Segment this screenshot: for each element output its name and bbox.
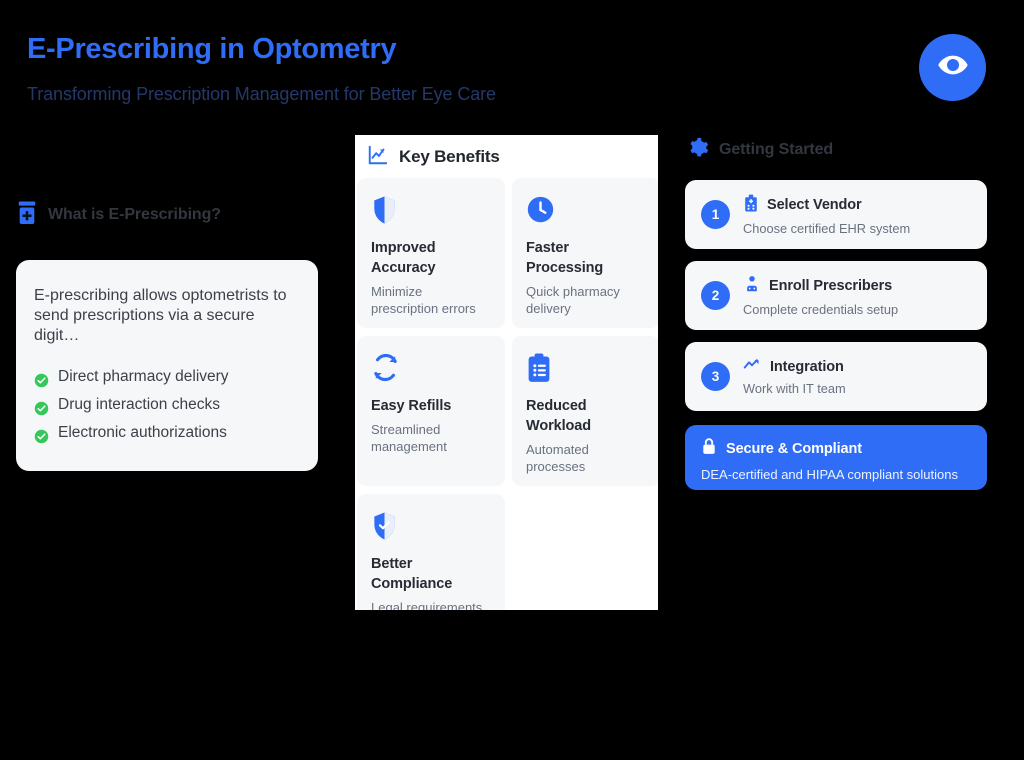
steps-list: 1 Select Vendor xyxy=(685,180,987,490)
step-body: Enroll Prescribers Complete credentials … xyxy=(743,275,973,317)
shield-icon xyxy=(371,195,491,225)
about-heading: What is E-Prescribing? xyxy=(48,206,221,224)
about-bullet-list: Direct pharmacy delivery Drug interactio… xyxy=(34,363,298,447)
bullet-label: Drug interaction checks xyxy=(58,391,220,419)
eye-icon xyxy=(937,49,969,86)
hospital-icon xyxy=(743,194,759,217)
eye-badge xyxy=(919,34,986,101)
step-body: Integration Work with IT team xyxy=(743,357,973,396)
step-number-badge: 3 xyxy=(701,362,730,391)
step-desc: Complete credentials setup xyxy=(743,302,973,317)
step-number-badge: 2 xyxy=(701,281,730,310)
benefit-card: Faster Processing Quick pharmacy deliver… xyxy=(512,178,658,328)
secure-compliant-card[interactable]: Secure & Compliant DEA-certified and HIP… xyxy=(685,425,987,490)
check-circle-icon xyxy=(34,370,49,385)
benefit-desc: Streamlined management xyxy=(371,421,491,455)
list-item: Drug interaction checks xyxy=(34,391,298,419)
benefit-desc: Minimize prescription errors xyxy=(371,283,491,317)
benefit-title: Faster Processing xyxy=(526,238,646,278)
secure-title: Secure & Compliant xyxy=(726,441,862,457)
about-card: E-prescribing allows optometrists to sen… xyxy=(16,260,318,471)
secure-desc: DEA-certified and HIPAA compliant soluti… xyxy=(701,467,973,482)
step-desc: Work with IT team xyxy=(743,381,973,396)
list-item: Direct pharmacy delivery xyxy=(34,363,298,391)
step-desc: Choose certified EHR system xyxy=(743,221,973,236)
getting-started-header: Getting Started xyxy=(685,135,987,165)
users-icon xyxy=(743,275,761,298)
step-title: Select Vendor xyxy=(767,197,862,213)
bullet-label: Electronic authorizations xyxy=(58,419,227,447)
pill-bottle-icon xyxy=(16,201,38,230)
step-card[interactable]: 2 Enroll Prescribers Complete credential xyxy=(685,261,987,330)
bullet-label: Direct pharmacy delivery xyxy=(58,363,229,391)
getting-started-section: Getting Started 1 xyxy=(685,135,987,490)
benefit-card: Easy Refills Streamlined management xyxy=(357,336,505,486)
getting-started-heading: Getting Started xyxy=(719,141,833,159)
key-benefits-panel: Key Benefits Improved Accuracy Minimize … xyxy=(355,135,658,610)
check-circle-icon xyxy=(34,426,49,441)
step-title: Enroll Prescribers xyxy=(769,278,892,294)
refresh-icon xyxy=(371,353,491,383)
check-circle-icon xyxy=(34,398,49,413)
step-card[interactable]: 3 Integration Work with IT team xyxy=(685,342,987,411)
benefit-title: Easy Refills xyxy=(371,396,491,416)
gear-icon xyxy=(687,137,709,164)
list-item: Electronic authorizations xyxy=(34,419,298,447)
benefit-desc: Automated processes xyxy=(526,441,646,475)
benefits-header: Key Benefits xyxy=(355,135,658,171)
clipboard-list-icon xyxy=(526,353,646,383)
step-body: Select Vendor Choose certified EHR syste… xyxy=(743,194,973,236)
chart-line-icon xyxy=(367,144,389,171)
benefit-desc: Legal requirements xyxy=(371,599,491,610)
benefit-title: Better Compliance xyxy=(371,554,491,594)
slide-canvas: E-Prescribing in Optometry Transforming … xyxy=(0,0,1024,760)
page-title: E-Prescribing in Optometry xyxy=(27,33,396,66)
benefits-heading: Key Benefits xyxy=(399,147,500,167)
about-paragraph: E-prescribing allows optometrists to sen… xyxy=(34,286,298,346)
step-title: Integration xyxy=(770,359,844,375)
benefit-desc: Quick pharmacy delivery xyxy=(526,283,646,317)
lock-icon xyxy=(701,437,717,460)
benefit-card: Reduced Workload Automated processes xyxy=(512,336,658,486)
benefit-card: Better Compliance Legal requirements xyxy=(357,494,505,610)
shield-check-icon xyxy=(371,511,491,541)
step-number-badge: 1 xyxy=(701,200,730,229)
trend-line-icon xyxy=(743,357,762,377)
step-card[interactable]: 1 Select Vendor xyxy=(685,180,987,249)
benefit-card-grid: Improved Accuracy Minimize prescription … xyxy=(355,178,658,610)
about-section: What is E-Prescribing? E-prescribing all… xyxy=(16,200,318,471)
benefit-title: Improved Accuracy xyxy=(371,238,491,278)
clock-icon xyxy=(526,195,646,225)
about-header: What is E-Prescribing? xyxy=(16,200,318,230)
benefit-title: Reduced Workload xyxy=(526,396,646,436)
page-subtitle: Transforming Prescription Management for… xyxy=(27,84,496,105)
benefit-card: Improved Accuracy Minimize prescription … xyxy=(357,178,505,328)
